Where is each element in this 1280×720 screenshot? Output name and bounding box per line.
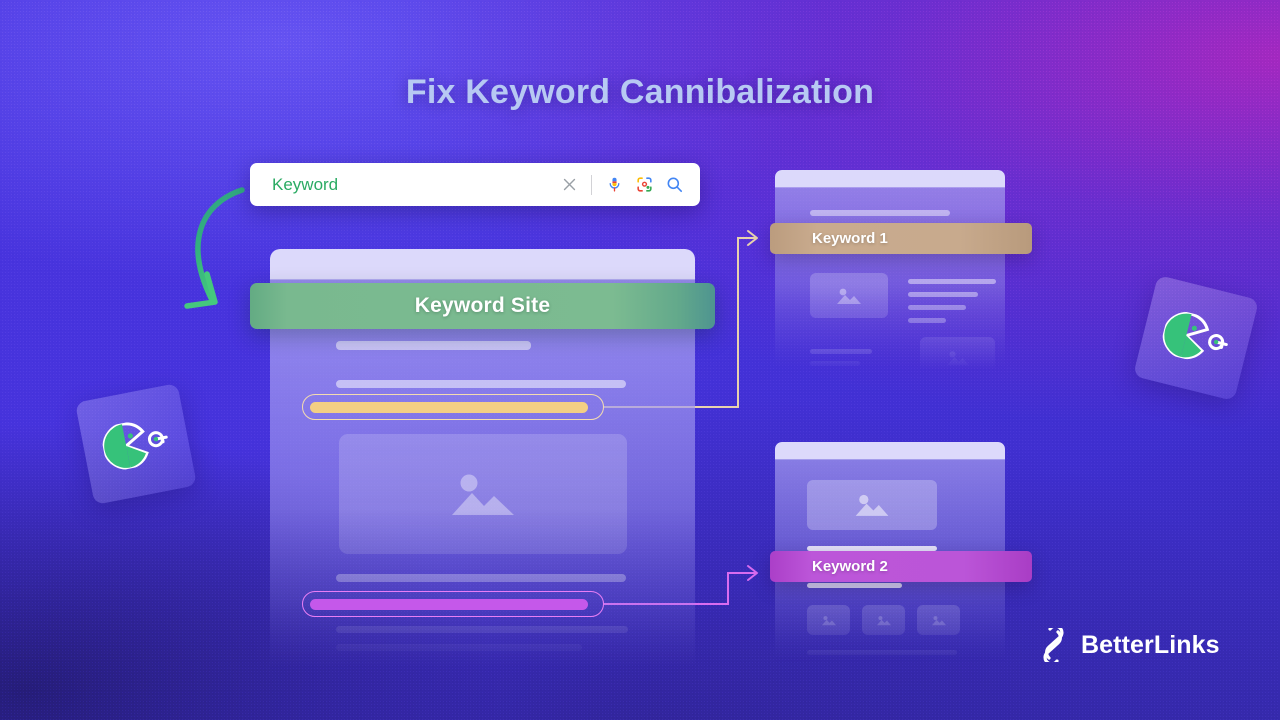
image-placeholder	[862, 605, 905, 635]
image-placeholder-icon	[444, 465, 522, 523]
decor-badge-left	[75, 383, 197, 505]
search-bar-divider	[591, 175, 592, 195]
search-input[interactable]: Keyword	[272, 175, 561, 195]
image-placeholder	[807, 605, 850, 635]
search-magnifier-icon[interactable]	[665, 175, 684, 194]
highlight-pill-pink-fill	[310, 599, 588, 610]
brand-name: BetterLinks	[1081, 631, 1220, 660]
image-placeholder-icon	[851, 490, 893, 520]
image-placeholder-icon	[834, 285, 864, 307]
text-placeholder-bar	[908, 292, 978, 297]
text-placeholder-bar	[810, 361, 860, 366]
google-lens-icon[interactable]	[635, 175, 654, 194]
close-x-icon[interactable]	[561, 176, 578, 193]
image-placeholder-icon	[875, 614, 893, 627]
highlight-pill-yellow-fill	[310, 402, 588, 413]
text-placeholder-bar	[908, 318, 946, 323]
text-placeholder-bar	[807, 650, 957, 655]
image-placeholder	[920, 337, 995, 370]
text-placeholder-bar	[908, 305, 966, 310]
image-placeholder	[810, 273, 888, 318]
text-placeholder-bar	[810, 210, 950, 216]
text-placeholder-bar	[336, 644, 582, 651]
result-banner-keyword-2-label: Keyword 2	[812, 558, 888, 575]
result-banner-keyword-1-label: Keyword 1	[812, 230, 888, 247]
text-placeholder-bar	[336, 626, 628, 633]
result-card-1-topbar	[775, 170, 1005, 187]
betterlinks-chain-logo-icon	[1037, 628, 1070, 662]
result-card-2-topbar	[775, 442, 1005, 459]
text-placeholder-bar	[908, 279, 996, 284]
text-placeholder-bar	[810, 349, 872, 354]
keyword-site-banner[interactable]: Keyword Site	[250, 283, 715, 329]
result-banner-keyword-2[interactable]: Keyword 2	[770, 551, 1032, 582]
page-title: Fix Keyword Cannibalization	[0, 73, 1280, 112]
text-placeholder-bar	[336, 341, 531, 350]
pacman-key-icon	[99, 415, 173, 473]
highlight-pill-yellow[interactable]	[302, 394, 604, 420]
image-placeholder-icon	[930, 614, 948, 627]
search-bar-icons	[561, 175, 684, 195]
main-card-topbar	[270, 249, 695, 279]
google-microphone-icon[interactable]	[605, 175, 624, 194]
text-placeholder-bar	[336, 380, 626, 388]
image-placeholder	[807, 480, 937, 530]
pacman-key-icon	[1158, 308, 1233, 369]
keyword-site-label: Keyword Site	[415, 294, 550, 318]
result-banner-keyword-1[interactable]: Keyword 1	[770, 223, 1032, 254]
brand-logo: BetterLinks	[1037, 628, 1220, 662]
text-placeholder-bar	[336, 574, 626, 582]
highlight-pill-pink[interactable]	[302, 591, 604, 617]
text-placeholder-bar	[807, 583, 902, 588]
image-placeholder-icon	[820, 614, 838, 627]
search-bar[interactable]: Keyword	[250, 163, 700, 206]
image-placeholder	[917, 605, 960, 635]
image-placeholder-icon	[944, 348, 972, 368]
image-placeholder	[339, 434, 627, 554]
result-card-keyword-1	[775, 170, 1005, 370]
